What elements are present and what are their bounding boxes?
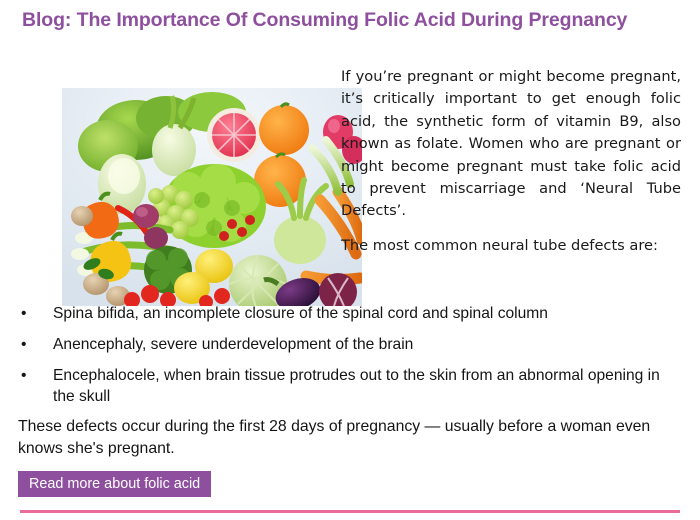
intro-text-column: If you’re pregnant or might become pregn… [341,66,681,257]
intro-paragraph-2: The most common neural tube defects are: [341,235,681,257]
intro-paragraph-1: If you’re pregnant or might become pregn… [341,66,681,223]
list-item-label: Anencephaly, severe underdevelopment of … [53,336,413,353]
closing-paragraph: These defects occur during the first 28 … [18,416,682,460]
bottom-accent-rule [20,510,680,513]
blog-article-page: Blog: The Importance Of Consuming Folic … [0,0,700,520]
neural-tube-defects-list: • Spina bifida, an incomplete closure of… [18,303,682,407]
fresh-vegetables-and-fruit-photo: Overhead photo of assorted fresh vegetab… [62,88,362,306]
read-more-about-folic-acid-button[interactable]: Read more about folic acid [18,471,211,497]
list-item: • Encephalocele, when brain tissue protr… [18,365,682,407]
list-item-label: Encephalocele, when brain tissue protrud… [53,367,660,405]
list-item-label: Spina bifida, an incomplete closure of t… [53,305,548,322]
list-item: • Anencephaly, severe underdevelopment o… [18,334,682,355]
bullet-icon: • [21,303,26,324]
list-item: • Spina bifida, an incomplete closure of… [18,303,682,324]
bullet-icon: • [21,365,26,386]
bullet-icon: • [21,334,26,355]
page-title: Blog: The Importance Of Consuming Folic … [22,8,662,32]
hero-image: Overhead photo of assorted fresh vegetab… [62,88,362,306]
